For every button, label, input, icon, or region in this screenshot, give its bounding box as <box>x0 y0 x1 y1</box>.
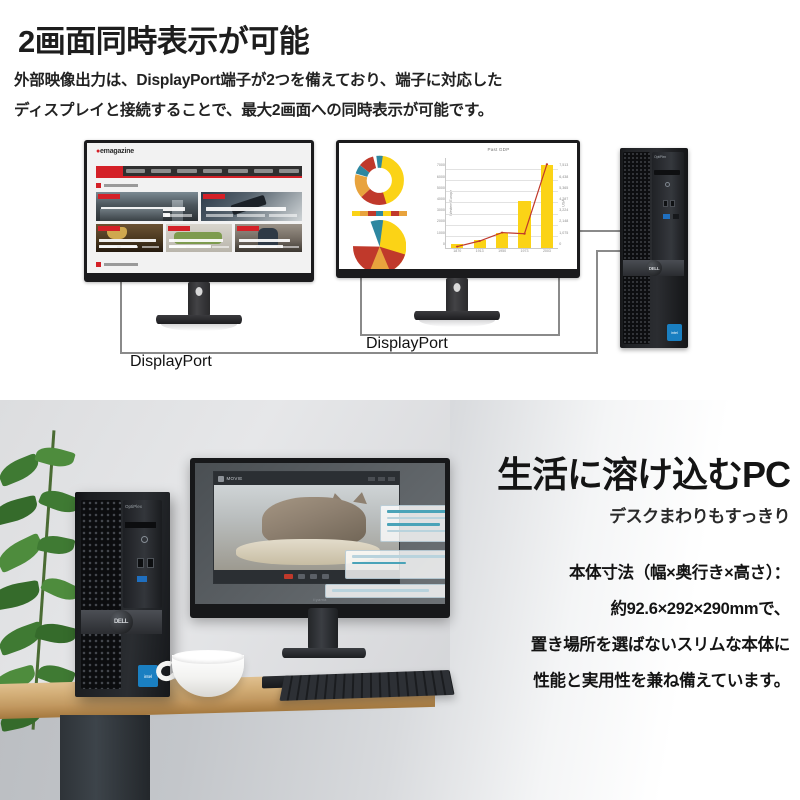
photo-monitor-screen: MOVIE <box>195 463 445 604</box>
xtick-1: 1913 <box>476 249 484 253</box>
cable-hole-icon <box>196 287 203 296</box>
chart-plot-area: Western Europe USA 0 <box>445 158 558 249</box>
monitor-right: Past GDP Western Europe USA <box>336 140 580 330</box>
article-row-top <box>96 192 302 220</box>
nav-item-3[interactable] <box>203 169 223 173</box>
intro-line-2: ディスプレイと接続することで、最大2画面への同時表示が可能です。 <box>14 96 714 126</box>
photo-monitor-base <box>282 648 366 658</box>
cable-hole-icon <box>454 283 461 292</box>
overlay-panel-statusbar <box>325 584 445 598</box>
movie-window-title: MOVIE <box>227 476 243 481</box>
play-icon <box>310 574 317 579</box>
xtick-0: 1870 <box>453 249 461 253</box>
y2tick-4: 4,297 <box>559 197 568 201</box>
xtick-3: 1973 <box>521 249 529 253</box>
lifestyle-subtitle: デスクまわりもすっきり <box>430 502 790 527</box>
close-icon <box>388 477 395 481</box>
next-icon <box>322 574 329 579</box>
xtick-4: 2003 <box>543 249 551 253</box>
ytick-6: 6000 <box>437 175 445 179</box>
y2tick-5: 5,365 <box>559 186 568 190</box>
tower-front-panel <box>652 152 684 262</box>
y2tick-1: 1,075 <box>559 231 568 235</box>
pie-chart-svg <box>353 220 406 269</box>
ytick-3: 3000 <box>437 208 445 212</box>
photo-tower-front-panel <box>123 500 162 608</box>
photo-tower-mesh-grille <box>81 500 121 689</box>
lifestyle-title: 生活に溶け込むPC <box>430 455 790 495</box>
movie-window-titlebar: MOVIE <box>214 472 400 484</box>
section-heading-latest <box>96 183 138 188</box>
record-icon <box>284 574 293 579</box>
section-heading-other <box>96 262 138 267</box>
nav-item-6[interactable] <box>279 169 299 173</box>
minimize-icon <box>368 477 375 481</box>
ytick-2: 2000 <box>437 219 445 223</box>
monitor-right-neck <box>446 278 468 312</box>
article-card-technews[interactable] <box>201 192 303 220</box>
lifestyle-photo-section: OptiPlex DELL intel MOVIE <box>0 400 800 800</box>
photo-optical-drive-icon[interactable] <box>125 522 156 528</box>
nav-item-5[interactable] <box>254 169 274 173</box>
spec-line-3: 置き場所を選ばないスリムな本体に <box>430 627 790 663</box>
photo-tower-model-text: OptiPlex <box>125 504 142 509</box>
donut-legend <box>352 211 407 216</box>
analytics-dashboard: Past GDP Western Europe USA <box>339 143 577 269</box>
lifestyle-body: 本体寸法（幅×奥行き×高さ）： 約92.6×292×290mmで、 置き場所を選… <box>430 555 790 699</box>
monitor-left-base <box>156 315 242 324</box>
y2tick-3: 3,224 <box>559 208 568 212</box>
usb-ports[interactable] <box>663 200 675 207</box>
stop-icon <box>298 574 305 579</box>
photo-power-button-icon[interactable] <box>141 536 148 543</box>
lifestyle-copy: 生活に溶け込むPC デスクまわりもすっきり 本体寸法（幅×奥行き×高さ）： 約9… <box>430 455 790 699</box>
monitor-brand-logo: iiyama <box>313 597 326 602</box>
page-title: 2画面同時表示が可能 <box>18 16 309 61</box>
y2tick-2: 2,148 <box>559 219 568 223</box>
photo-usb-ports[interactable] <box>137 558 154 568</box>
chart-line-overlay <box>446 158 558 248</box>
monitor-left-screen: ●emagazine <box>87 143 311 273</box>
ytick-7: 7000 <box>437 163 445 167</box>
photo-monitor-bezel: MOVIE <box>190 458 450 618</box>
site-nav[interactable] <box>96 166 302 178</box>
dual-display-section: 2画面同時表示が可能 外部映像出力は、DisplayPort端子が2つを備えてお… <box>0 0 800 400</box>
monitor-left: ●emagazine <box>84 140 314 330</box>
y2tick-7: 7,513 <box>559 163 568 167</box>
article-row-bottom <box>96 224 302 252</box>
optical-drive-icon[interactable] <box>654 170 680 175</box>
monitor-left-neck <box>188 282 210 316</box>
photo-monitor-neck <box>308 608 338 650</box>
article-card-travel[interactable] <box>96 192 198 220</box>
audio-port-icon[interactable] <box>673 214 679 219</box>
monitor-right-screen: Past GDP Western Europe USA <box>339 143 577 269</box>
power-button-icon[interactable] <box>665 182 670 187</box>
intro-line-1: 外部映像出力は、DisplayPort端子が2つを備えており、端子に対応した <box>14 66 714 96</box>
nav-item-1[interactable] <box>151 169 171 173</box>
article-card-food[interactable] <box>96 224 163 252</box>
coffee-cup-rim <box>172 650 244 664</box>
dashboard-pies <box>339 143 420 269</box>
article-card-deco[interactable] <box>166 224 233 252</box>
y2tick-0: 0 <box>559 242 561 246</box>
nav-accent-block <box>96 166 123 176</box>
chart-title: Past GDP <box>420 147 577 152</box>
callout-line-left-riser <box>596 250 598 354</box>
spec-line-1: 本体寸法（幅×奥行き×高さ）： <box>430 555 790 591</box>
desktop-pc-tower: OptiPlex DELL intel <box>620 148 688 348</box>
xtick-2: 1950 <box>498 249 506 253</box>
maximize-icon <box>378 477 385 481</box>
dell-logo-badge: DELL <box>646 260 662 276</box>
movie-app-icon <box>218 476 224 482</box>
pie-chart <box>346 220 413 269</box>
site-logo: ●emagazine <box>96 148 134 155</box>
ytick-0: 0 <box>443 242 445 246</box>
monitor-right-base <box>414 311 500 320</box>
nav-item-2[interactable] <box>177 169 197 173</box>
intro-copy: 外部映像出力は、DisplayPort端子が2つを備えており、端子に対応した デ… <box>14 66 714 126</box>
ytick-5: 5000 <box>437 186 445 190</box>
displayport-label-right: DisplayPort <box>366 335 448 353</box>
photo-monitor: MOVIE <box>190 458 450 618</box>
intel-sticker-badge: intel <box>667 324 682 341</box>
usb3-port-icon[interactable] <box>663 214 670 219</box>
nav-item-4[interactable] <box>228 169 248 173</box>
tower-model-text: OptiPlex <box>654 155 666 159</box>
photo-usb3-port-icon[interactable] <box>137 576 147 582</box>
photo-pc-tower: OptiPlex DELL intel <box>75 492 170 697</box>
window-controls[interactable] <box>368 477 395 481</box>
monitor-right-bezel: Past GDP Western Europe USA <box>336 140 580 278</box>
photo-intel-sticker-badge: intel <box>138 665 158 687</box>
ytick-1: 1000 <box>437 231 445 235</box>
tower-mesh-grille <box>623 152 650 344</box>
article-card-trends[interactable] <box>235 224 302 252</box>
donut-chart <box>346 153 413 217</box>
page-root: 2画面同時表示が可能 外部映像出力は、DisplayPort端子が2つを備えてお… <box>0 0 800 800</box>
displayport-label-left: DisplayPort <box>130 353 212 371</box>
connection-diagram: ●emagazine <box>0 138 800 393</box>
spec-line-4: 性能と実用性を兼ね備えています。 <box>430 663 790 699</box>
magazine-website: ●emagazine <box>87 143 311 273</box>
ytick-4: 4000 <box>437 197 445 201</box>
nav-item-0[interactable] <box>126 169 146 173</box>
desk-leg <box>60 715 150 800</box>
cat-ear-right <box>354 491 370 504</box>
monitor-left-bezel: ●emagazine <box>84 140 314 282</box>
donut-chart-svg <box>352 153 407 208</box>
article-grid <box>96 192 302 252</box>
photo-dell-logo-badge: DELL <box>109 610 133 634</box>
dashboard-bar-chart: Past GDP Western Europe USA <box>420 143 577 269</box>
y2tick-6: 6,438 <box>559 175 568 179</box>
spec-line-2: 約92.6×292×290mmで、 <box>430 591 790 627</box>
